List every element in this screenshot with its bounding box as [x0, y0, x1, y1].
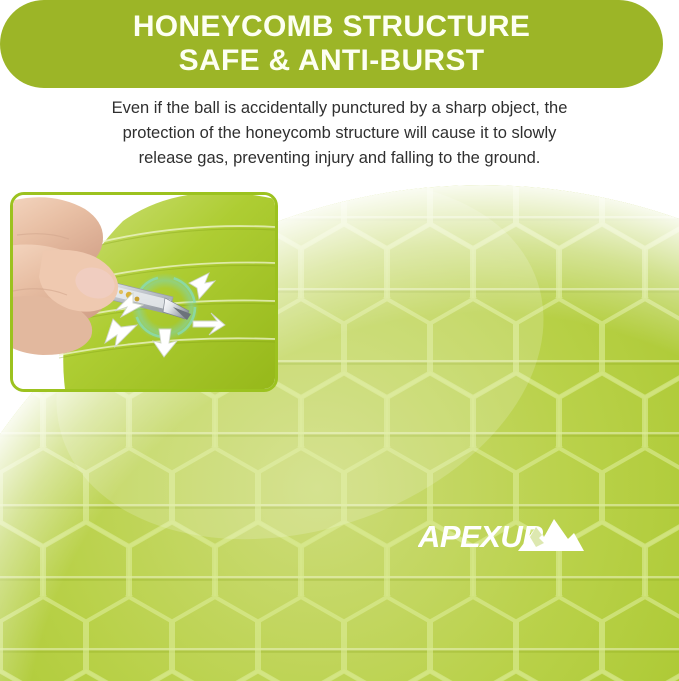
headline-banner: HONEYCOMB STRUCTURE SAFE & ANTI-BURST — [0, 0, 663, 88]
headline-line-1: HONEYCOMB STRUCTURE — [133, 10, 530, 44]
description-line-1: Even if the ball is accidentally punctur… — [36, 96, 643, 121]
description-line-3: release gas, preventing injury and falli… — [36, 146, 643, 171]
headline-line-2: SAFE & ANTI-BURST — [179, 44, 485, 78]
description-text: Even if the ball is accidentally punctur… — [36, 96, 643, 171]
description-line-2: protection of the honeycomb structure wi… — [36, 121, 643, 146]
brand-logo: APEXUP — [418, 513, 586, 561]
product-feature-image: HONEYCOMB STRUCTURE SAFE & ANTI-BURST Ev… — [0, 0, 679, 681]
puncture-demo-illustration — [13, 195, 275, 389]
brand-logo-graphic: APEXUP — [418, 513, 586, 561]
puncture-demo-callout — [10, 192, 278, 392]
